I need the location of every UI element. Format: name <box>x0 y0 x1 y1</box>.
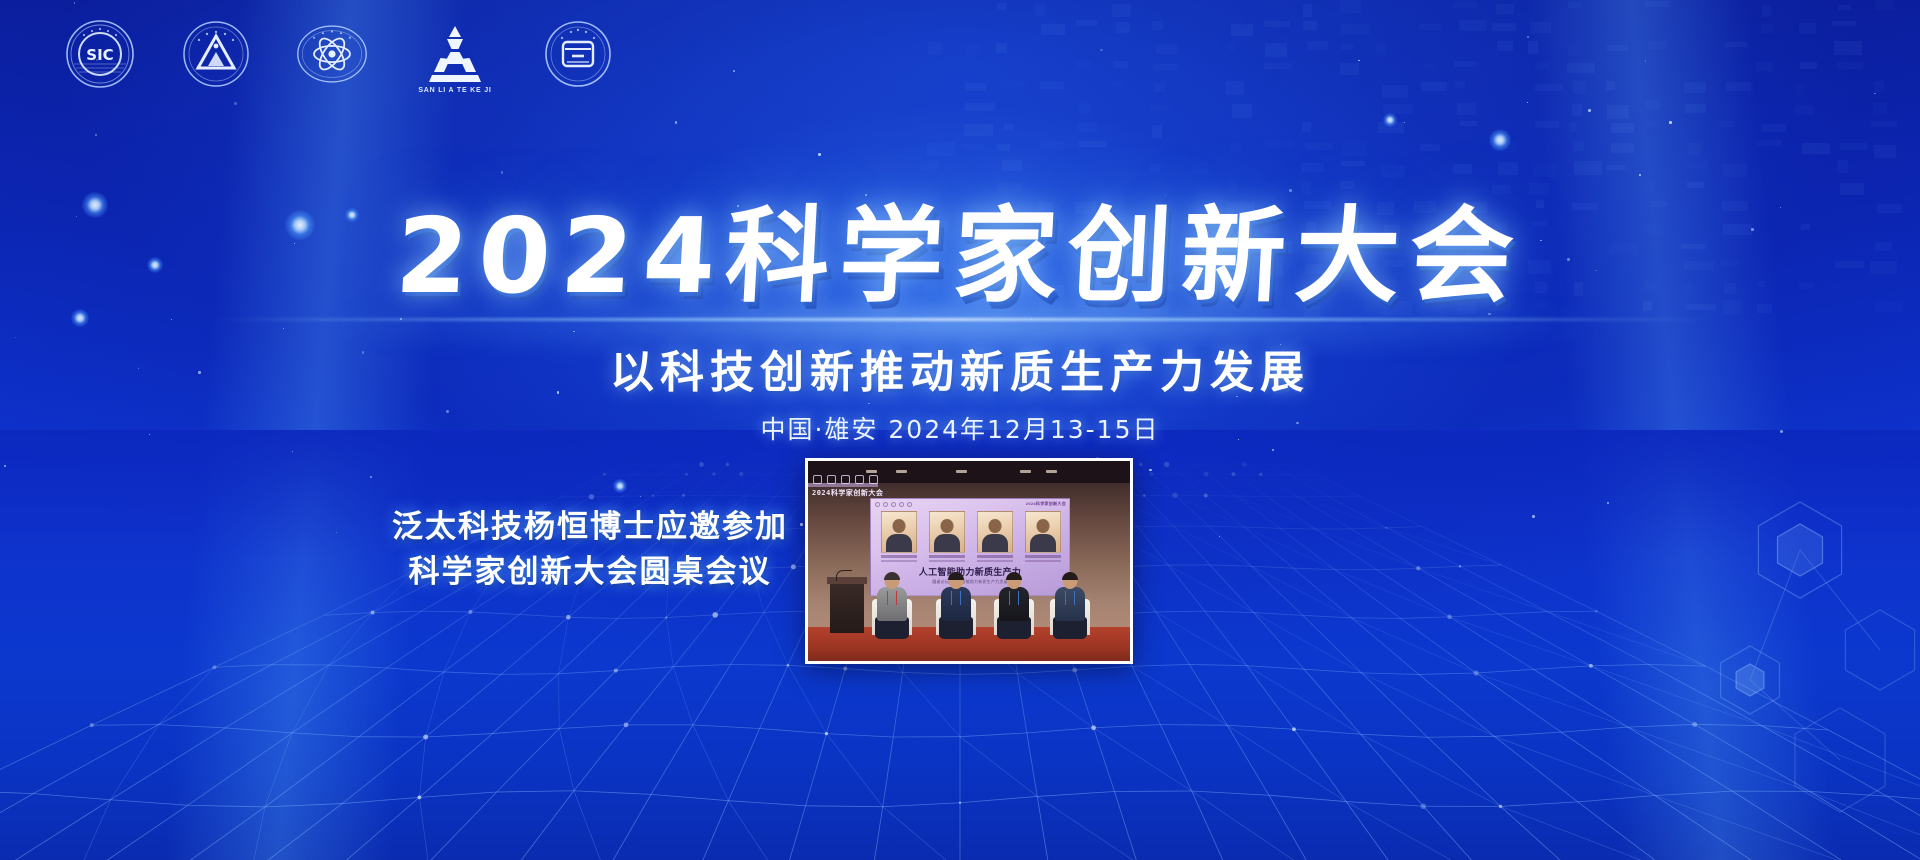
triangle-delta-emblem-tag: SAN LI A TE KE JI <box>412 87 498 94</box>
venue-icon <box>841 475 850 484</box>
venue-icon <box>869 475 878 484</box>
svg-text:SIC: SIC <box>86 46 113 64</box>
podium <box>830 581 864 633</box>
screen-icon <box>883 502 888 507</box>
caption-line-1: 泛太科技杨恒博士应邀参加 <box>380 505 800 550</box>
ceiling-light <box>956 470 967 473</box>
screen-icon <box>875 502 880 507</box>
speaker-portrait <box>929 511 965 562</box>
conference-poster: SIC <box>0 0 1920 860</box>
venue-icon <box>813 475 822 484</box>
shield-circle-emblem-icon <box>542 18 614 90</box>
screen-topic-text: 人工智能助力新质生产力 <box>871 565 1069 578</box>
horizon-line <box>210 318 1710 321</box>
speaker-portrait-row <box>881 511 1061 562</box>
screen-icon <box>899 502 904 507</box>
sub-title: 以科技创新推动新质生产力发展 <box>0 336 1920 400</box>
venue-icon-row <box>813 475 878 484</box>
triangle-seal-emblem-icon <box>180 18 252 90</box>
main-title-wrap: 2024科学家创新大会 <box>0 200 1920 312</box>
page-title: 2024科学家创新大会 <box>393 200 1526 312</box>
ceiling-light <box>1020 470 1031 473</box>
screen-icon-row <box>875 502 912 507</box>
screen-icon <box>891 502 896 507</box>
caption-block: 泛太科技杨恒博士应邀参加 科学家创新大会圆桌会议 <box>380 505 800 595</box>
microphone-icon <box>836 570 852 581</box>
venue-icon <box>827 475 836 484</box>
event-photo: 2024科学家创新大会 2024科学家创新大会 <box>805 458 1133 664</box>
date-location-line: 中国·雄安 2024年12月13-15日 <box>0 410 1920 446</box>
screen-topic-subtitle: 圆桌论坛 · 人工智能助力新质生产力发展 <box>871 579 1069 585</box>
speaker-portrait <box>1025 511 1061 562</box>
organizer-logo-strip: SIC <box>64 18 614 90</box>
screen-brand-text: 2024科学家创新大会 <box>1026 501 1066 507</box>
caption-line-2: 科学家创新大会圆桌会议 <box>380 550 800 595</box>
venue-brand-text: 2024科学家创新大会 <box>812 488 883 498</box>
atom-oval-emblem-icon <box>296 18 368 90</box>
stage-screen: 2024科学家创新大会 人工智能助力 <box>870 498 1070 596</box>
sic-emblem-icon: SIC <box>64 18 136 90</box>
ceiling-light <box>1046 470 1057 473</box>
triangle-delta-emblem-icon: SAN LI A TE KE JI <box>412 18 498 90</box>
ceiling-light <box>896 470 907 473</box>
ceiling-light <box>866 470 877 473</box>
venue-icon <box>855 475 864 484</box>
speaker-portrait <box>881 511 917 562</box>
speaker-portrait <box>977 511 1013 562</box>
screen-icon <box>907 502 912 507</box>
